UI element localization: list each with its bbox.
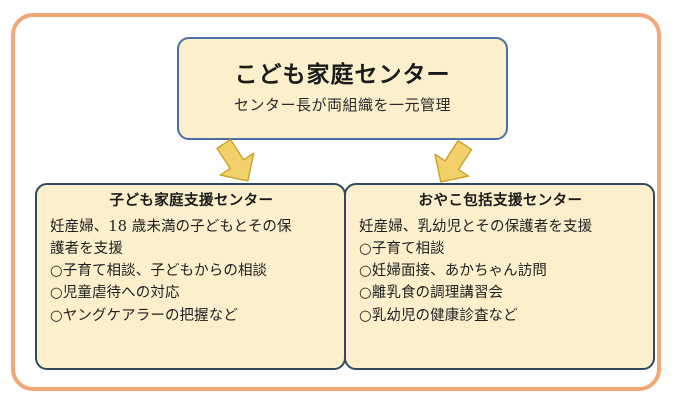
- body-line: 妊産婦、18 歳未満の子どもとその保: [50, 216, 333, 238]
- body-line: ○児童虐待への対応: [50, 282, 333, 304]
- body-line: ○乳幼児の健康診査など: [359, 305, 642, 327]
- bottom-right-header: おやこ包括支援センター: [359, 193, 642, 210]
- body-line: ○ヤングケアラーの把握など: [50, 305, 333, 327]
- diagram-canvas: こども家庭センター センター長が両組織を一元管理 子ども家庭支援センター 妊産婦…: [0, 0, 690, 417]
- body-line: 妊産婦、乳幼児とその保護者を支援: [359, 216, 642, 238]
- top-box-subtitle: センター長が両組織を一元管理: [234, 97, 451, 114]
- body-line: ○子育て相談、子どもからの相談: [50, 260, 333, 282]
- bottom-left-header: 子ども家庭支援センター: [50, 193, 333, 210]
- arrow-down-right-icon: [424, 139, 480, 187]
- body-line: ○子育て相談: [359, 238, 642, 260]
- body-line: 護者を支援: [50, 238, 333, 260]
- top-box-kodomo-katei-center: こども家庭センター センター長が両組織を一元管理: [177, 37, 508, 140]
- bottom-left-body: 妊産婦、18 歳未満の子どもとその保 護者を支援 ○子育て相談、子どもからの相談…: [50, 216, 333, 326]
- bottom-box-kodomo-katei-shien-center: 子ども家庭支援センター 妊産婦、18 歳未満の子どもとその保 護者を支援 ○子育…: [35, 183, 346, 370]
- bottom-box-oyako-houkatsu-shien-center: おやこ包括支援センター 妊産婦、乳幼児とその保護者を支援 ○子育て相談 ○妊婦面…: [344, 183, 655, 370]
- body-line: ○妊婦面接、あかちゃん訪問: [359, 260, 642, 282]
- bottom-right-body: 妊産婦、乳幼児とその保護者を支援 ○子育て相談 ○妊婦面接、あかちゃん訪問 ○離…: [359, 216, 642, 326]
- arrow-down-left-icon: [207, 139, 263, 187]
- top-box-title: こども家庭センター: [235, 63, 451, 88]
- body-line: ○離乳食の調理講習会: [359, 282, 642, 304]
